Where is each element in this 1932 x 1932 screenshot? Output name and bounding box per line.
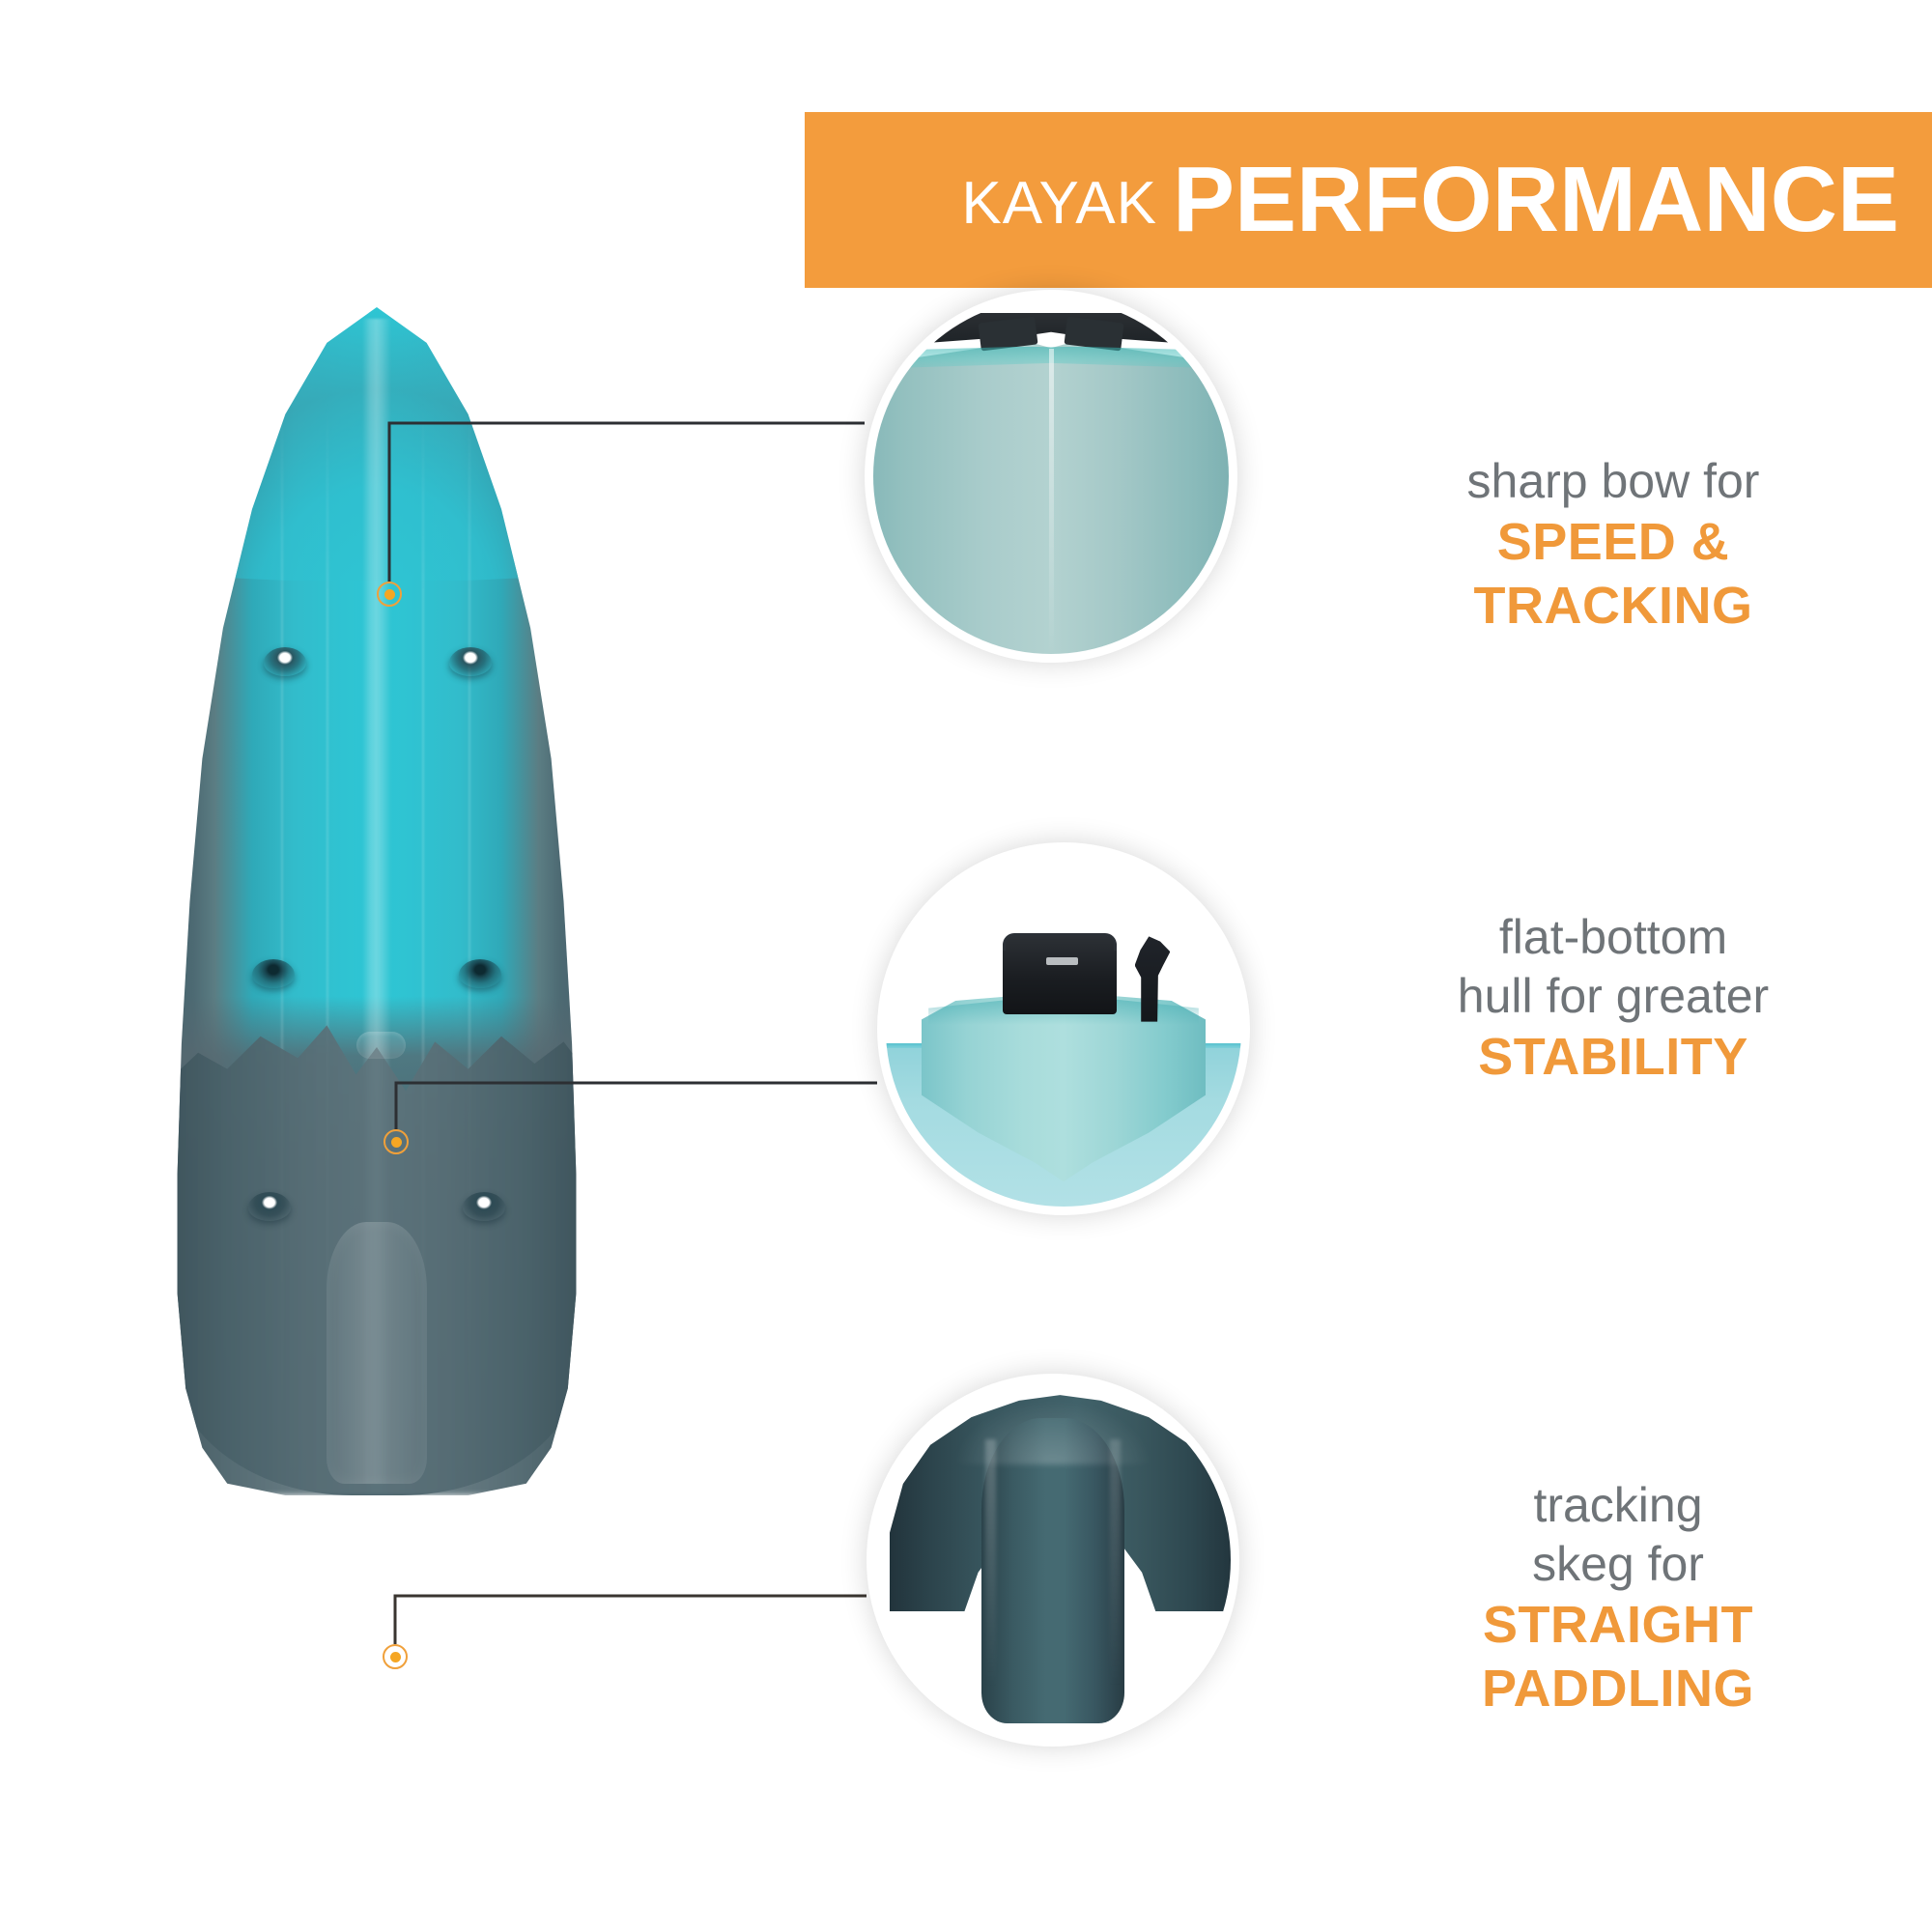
callout-marker-bow[interactable] (377, 582, 402, 607)
skeg-highlight-left (985, 1439, 996, 1689)
callout-2-bold-line-1: STABILITY (1372, 1026, 1855, 1090)
hull-photo-inner (886, 851, 1241, 1207)
page-title-light: KAYAK (961, 174, 1157, 234)
scupper-hole (264, 647, 306, 676)
callout-1-light-line-1: sharp bow for (1372, 452, 1855, 511)
callout-text-skeg: tracking skeg for STRAIGHT PADDLING (1381, 1476, 1855, 1721)
callout-3-light-line-1: tracking (1381, 1476, 1855, 1535)
callout-1-bold-line-1: SPEED & (1372, 511, 1855, 575)
kayak-seat-frame (1003, 933, 1117, 951)
bow-centerline (1049, 349, 1054, 654)
header-banner: KAYAK PERFORMANCE (805, 112, 1932, 288)
leader-line-skeg (395, 1596, 867, 1644)
callout-2-light-line-2: hull for greater (1372, 967, 1855, 1026)
hull-handle-recess (356, 1032, 407, 1059)
kayak-hull-body (169, 307, 584, 1495)
callout-2-light-line-1: flat-bottom (1372, 908, 1855, 967)
callout-text-hull: flat-bottom hull for greater STABILITY (1372, 908, 1855, 1090)
skeg-highlight-right (1110, 1439, 1121, 1689)
bow-photo-inner (873, 298, 1229, 654)
seat-brand-label (1046, 957, 1078, 965)
hull-skeg-ridge (327, 1222, 426, 1484)
callout-photo-bow (865, 290, 1237, 663)
callout-photo-skeg (867, 1374, 1239, 1747)
page-title-bold: PERFORMANCE (1173, 154, 1899, 246)
skeg-top-sheen (953, 1400, 1152, 1463)
callout-photo-hull (877, 842, 1250, 1215)
callout-marker-hull[interactable] (384, 1129, 409, 1154)
callout-marker-skeg[interactable] (383, 1644, 408, 1669)
callout-text-bow: sharp bow for SPEED & TRACKING (1372, 452, 1855, 639)
scupper-hole (459, 959, 501, 988)
callout-3-bold-line-1: STRAIGHT (1381, 1594, 1855, 1658)
callout-1-bold-line-2: TRACKING (1372, 575, 1855, 639)
scupper-hole (248, 1192, 291, 1221)
callout-3-bold-line-2: PADDLING (1381, 1658, 1855, 1721)
scupper-hole (252, 959, 295, 988)
kayak-hull-image (169, 307, 584, 1495)
scupper-hole (463, 1192, 505, 1221)
scupper-hole (449, 647, 492, 676)
skeg-photo-inner (875, 1382, 1231, 1738)
callout-3-light-line-2: skeg for (1381, 1535, 1855, 1594)
